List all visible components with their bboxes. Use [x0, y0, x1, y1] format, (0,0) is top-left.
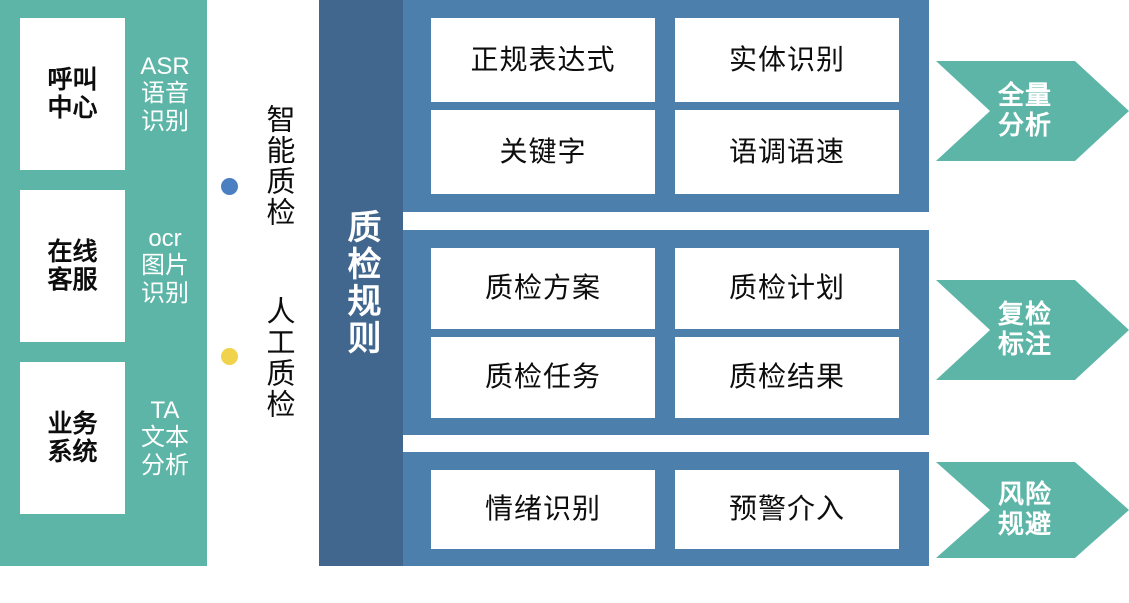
source-tech-label: ASR语音识别: [140, 53, 189, 135]
source-tech-asr: ASR语音识别: [129, 18, 201, 170]
outcome-label: 复检标注: [998, 300, 1052, 359]
feature-card-label: 实体识别: [729, 45, 845, 76]
feature-card-label: 正规表达式: [470, 45, 615, 76]
feature-grid: 正规表达式 实体识别 关键字 语调语速: [431, 18, 899, 194]
bullet-dot-icon: [221, 348, 238, 365]
feature-card-label: 质检计划: [729, 273, 845, 304]
feature-block-inspection-flow: 质检方案 质检计划 质检任务 质检结果: [403, 230, 929, 435]
source-card-call-center[interactable]: 呼叫中心: [20, 18, 125, 170]
architecture-diagram: 呼叫中心 ASR语音识别 在线客服 ocr图片识别 业务系统 TA文本分析 智能…: [0, 0, 1129, 603]
outcome-chevron-risk-avoidance[interactable]: 风险规避: [936, 462, 1129, 558]
source-card-label: 呼叫中心: [47, 66, 97, 122]
feature-card[interactable]: 质检任务: [431, 337, 655, 418]
bullet-dot-icon: [221, 178, 238, 195]
source-card-business-system[interactable]: 业务系统: [20, 362, 125, 514]
feature-card[interactable]: 情绪识别: [431, 470, 655, 549]
source-tech-ocr: ocr图片识别: [129, 190, 201, 342]
outcome-label: 全量分析: [998, 81, 1052, 140]
feature-block-recognition: 正规表达式 实体识别 关键字 语调语速: [403, 0, 929, 212]
feature-card[interactable]: 正规表达式: [431, 18, 655, 102]
feature-card-label: 情绪识别: [485, 494, 601, 525]
feature-card[interactable]: 质检结果: [675, 337, 899, 418]
feature-card-label: 质检结果: [729, 362, 845, 393]
feature-card[interactable]: 实体识别: [675, 18, 899, 102]
feature-card-label: 关键字: [499, 137, 586, 168]
feature-card[interactable]: 质检计划: [675, 248, 899, 329]
inspection-mode-list: 智能质检 人工质检: [207, 0, 319, 603]
list-item-label: 智能质检: [253, 104, 293, 228]
source-card-label: 在线客服: [47, 238, 97, 294]
feature-grid: 质检方案 质检计划 质检任务 质检结果: [431, 248, 899, 418]
feature-card[interactable]: 语调语速: [675, 110, 899, 194]
source-systems-panel: 呼叫中心 ASR语音识别 在线客服 ocr图片识别 业务系统 TA文本分析: [0, 0, 207, 566]
feature-card-label: 质检任务: [485, 362, 601, 393]
source-card-label: 业务系统: [47, 410, 97, 466]
source-tech-label: TA文本分析: [141, 397, 189, 479]
feature-card-label: 预警介入: [729, 494, 845, 525]
source-tech-ta: TA文本分析: [129, 362, 201, 514]
outcome-chevron-full-analysis[interactable]: 全量分析: [936, 61, 1129, 161]
outcome-label: 风险规避: [998, 480, 1052, 539]
feature-card-label: 语调语速: [729, 137, 845, 168]
outcome-chevron-review-annotation[interactable]: 复检标注: [936, 280, 1129, 380]
source-card-online-service[interactable]: 在线客服: [20, 190, 125, 342]
feature-card[interactable]: 关键字: [431, 110, 655, 194]
quality-rules-bar[interactable]: 质检规则: [319, 0, 403, 566]
feature-block-risk: 情绪识别 预警介入: [403, 452, 929, 566]
source-tech-label: ocr图片识别: [141, 225, 189, 307]
quality-rules-label: 质检规则: [342, 209, 380, 357]
feature-card[interactable]: 预警介入: [675, 470, 899, 549]
list-item-label: 人工质检: [253, 296, 293, 420]
feature-card[interactable]: 质检方案: [431, 248, 655, 329]
feature-card-label: 质检方案: [485, 273, 601, 304]
feature-grid: 情绪识别 预警介入: [431, 470, 899, 549]
